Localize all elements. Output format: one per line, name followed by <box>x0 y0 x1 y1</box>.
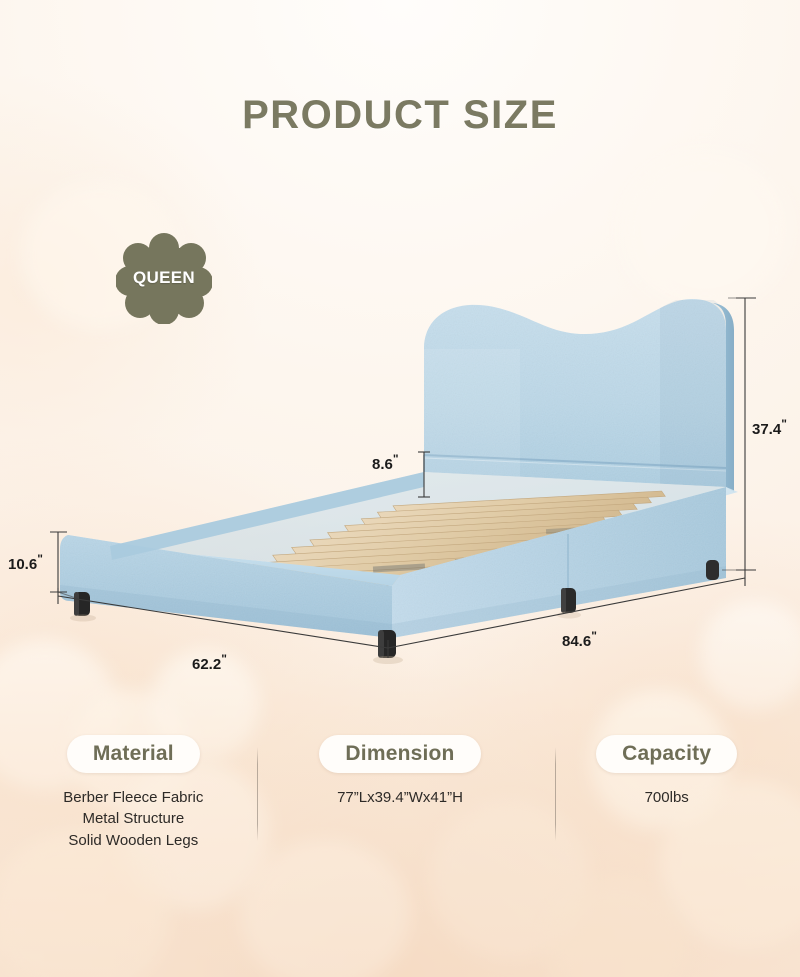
bed-leg <box>706 560 719 580</box>
spec-line: Solid Wooden Legs <box>63 830 203 851</box>
dimension-value: 8.6 <box>372 456 393 473</box>
spec-heading-capacity: Capacity <box>596 735 737 773</box>
spec-line: Metal Structure <box>63 808 203 829</box>
dimension-unit: " <box>393 452 399 466</box>
dimension-value: 10.6 <box>8 556 37 573</box>
spec-body-dimension: 77”Lx39.4”Wx41”H <box>337 787 463 808</box>
dimension-unit: " <box>221 652 227 666</box>
spec-panel-material: Material Berber Fleece Fabric Metal Stru… <box>0 735 267 865</box>
spec-body-material: Berber Fleece Fabric Metal Structure Sol… <box>63 787 203 851</box>
dimension-label-frame-height: 10.6" <box>8 552 43 573</box>
dimension-unit: " <box>591 629 597 643</box>
infographic-stage: PRODUCT SIZE QUEEN <box>0 0 800 977</box>
spec-heading-dimension: Dimension <box>319 735 480 773</box>
spec-heading-material: Material <box>67 735 200 773</box>
dimension-unit: " <box>781 417 787 431</box>
dimension-label-length: 84.6" <box>562 629 597 650</box>
dimension-label-overall-height: 37.4" <box>752 417 787 438</box>
bed-leg <box>378 630 396 658</box>
spec-panel-capacity: Capacity 700lbs <box>533 735 800 865</box>
dimension-value: 62.2 <box>192 656 221 673</box>
dimension-value: 37.4 <box>752 421 781 438</box>
bed-leg <box>561 588 576 613</box>
spec-panel-dimension: Dimension 77”Lx39.4”Wx41”H <box>267 735 534 865</box>
bed-leg <box>74 592 90 616</box>
dimension-value: 84.6 <box>562 633 591 650</box>
dimension-label-headboard-lower-panel-height: 8.6" <box>372 452 399 473</box>
spec-line: 700lbs <box>645 787 689 808</box>
dimension-unit: " <box>37 552 43 566</box>
spec-line: Berber Fleece Fabric <box>63 787 203 808</box>
spec-panels: Material Berber Fleece Fabric Metal Stru… <box>0 735 800 865</box>
dimension-label-width: 62.2" <box>192 652 227 673</box>
spec-body-capacity: 700lbs <box>645 787 689 808</box>
spec-line: 77”Lx39.4”Wx41”H <box>337 787 463 808</box>
